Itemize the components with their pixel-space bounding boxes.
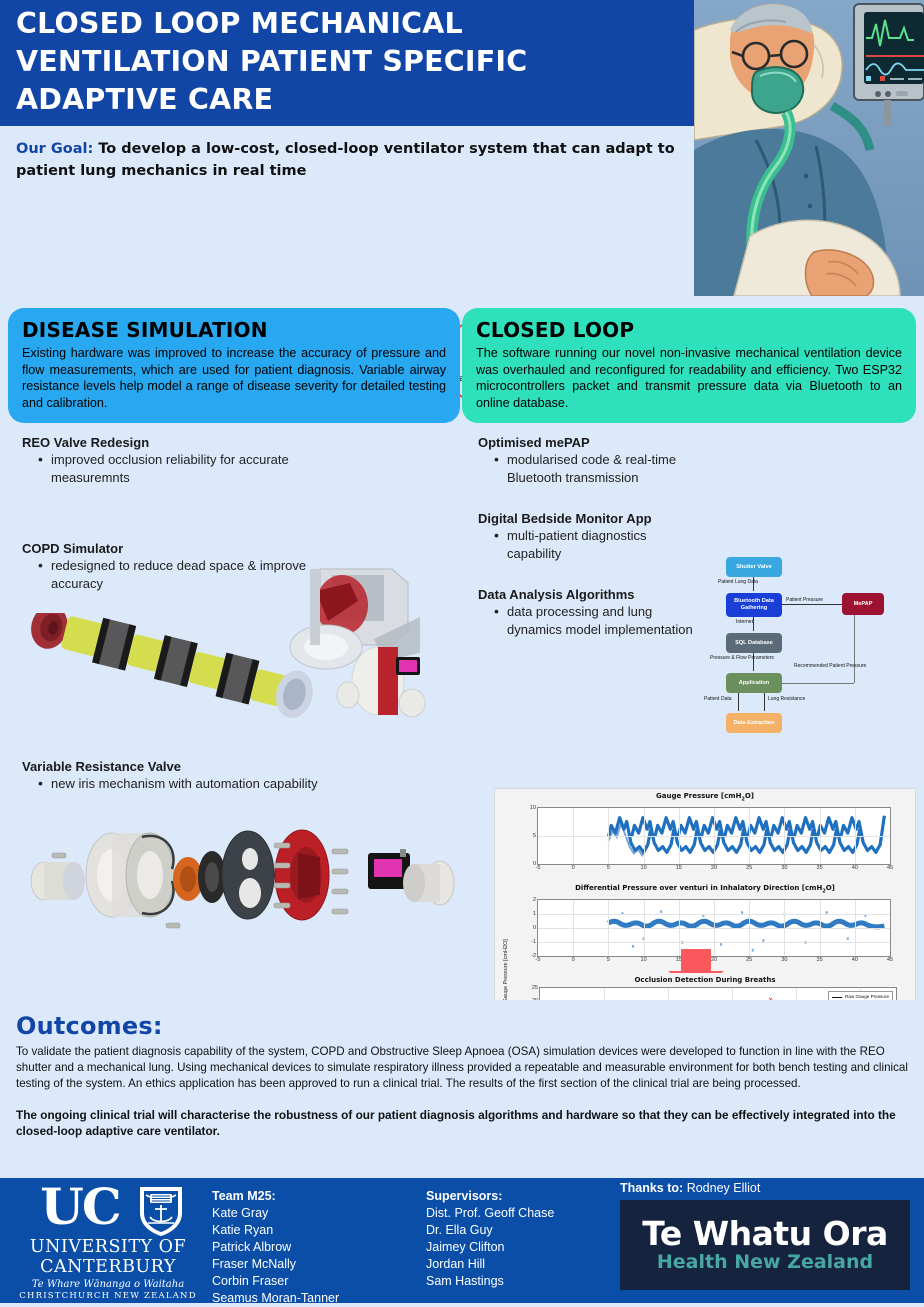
poster-footer: UC UNIVERSITY OF CANTERBURY Te Whare Wān… (0, 1178, 924, 1303)
chart-xtick: 5 (607, 957, 610, 963)
patient-ventilator-illustration (694, 0, 924, 296)
chart-xtick: 10 (641, 865, 647, 871)
item-heading: Variable Resistance Valve (22, 759, 452, 774)
team-member: Katie Ryan (212, 1222, 339, 1239)
supervisor-name: Sam Hastings (426, 1273, 554, 1290)
item-bullet: modularised code & real-time Bluetooth t… (494, 451, 698, 487)
chart-xtick: 20 (711, 865, 717, 871)
disease-simulation-title: DISEASE SIMULATION (22, 318, 446, 342)
chart-gauge-pressure: Gauge Pressure [cmH2O] (495, 789, 915, 881)
disease-simulation-box: DISEASE SIMULATION Existing hardware was… (8, 308, 460, 423)
disease-simulation-column: DISEASE SIMULATION Existing hardware was… (8, 308, 460, 983)
chart-ytick: 1 (533, 911, 536, 917)
chart-xtick: 40 (852, 865, 858, 871)
team-heading: Team M25: (212, 1188, 339, 1205)
chart-xtick: 5 (607, 865, 610, 871)
chart-xtick: 30 (781, 865, 787, 871)
chart-xtick: 0 (572, 957, 575, 963)
item-heading: Data Analysis Algorithms (478, 587, 708, 602)
item-reo-valve: REO Valve Redesign improved occlusion re… (22, 435, 302, 487)
diagram-node-mepap: MePAP (842, 593, 884, 615)
team-member: Fraser McNally (212, 1256, 339, 1273)
diagram-edge-patient-data: Patient Data (704, 696, 732, 702)
uc-maori-name: Te Whare Wānanga o Waitaha (18, 1279, 198, 1290)
team-member: Corbin Fraser (212, 1273, 339, 1290)
diagram-node-bluetooth-gathering: Bluetooth Data Gathering (726, 593, 782, 617)
outcomes-body: To validate the patient diagnosis capabi… (16, 1044, 908, 1092)
uc-city: CHRISTCHURCH NEW ZEALAND (18, 1291, 198, 1301)
uc-wordmark: UC (18, 1183, 142, 1231)
chart-ytick: -1 (531, 939, 536, 945)
chart-title: Differential Pressure over venturi in In… (495, 881, 915, 894)
chart-xtick: 10 (641, 957, 647, 963)
chart-ytick: 0 (533, 925, 536, 931)
chart-title: Occlusion Detection During Breaths (495, 973, 915, 984)
diagram-edge-lung-resistance: Lung Resistance (768, 696, 805, 702)
page-title: CLOSED LOOP MECHANICAL VENTILATION PATIE… (16, 5, 676, 119)
item-bullet: improved occlusion reliability for accur… (38, 451, 302, 487)
item-heading: REO Valve Redesign (22, 435, 302, 450)
item-copd-simulator: COPD Simulator redesigned to reduce dead… (22, 541, 342, 593)
supervisor-name: Jordan Hill (426, 1256, 554, 1273)
goal-band: Our Goal: To develop a low-cost, closed-… (0, 126, 694, 300)
chart-xtick: -5 (536, 865, 541, 871)
chart-xtick: 45 (887, 957, 893, 963)
chart-xtick: 40 (852, 957, 858, 963)
copd-simulator-figure (16, 613, 456, 733)
closed-loop-body: The software running our novel non-invas… (476, 345, 902, 411)
chart-xtick: 0 (572, 865, 575, 871)
diagram-edge-patient-pressure: Patient Pressure (786, 597, 823, 603)
chart-xtick: 35 (817, 865, 823, 871)
supervisors-heading: Supervisors: (426, 1188, 554, 1205)
chart-ytick: 2 (533, 897, 536, 903)
system-architecture-diagram: Shutter Valve Patient Lung Data Bluetoot… (702, 555, 916, 745)
thanks-heading: Thanks to: (620, 1181, 683, 1195)
chart-ytick: 25 (532, 985, 538, 991)
diagram-node-data-extraction: Data Extraction (726, 713, 782, 733)
goal-label: Our Goal: (16, 141, 93, 157)
outcomes-note: The ongoing clinical trial will characte… (16, 1107, 908, 1139)
diagram-edge-internet: Internet (736, 619, 753, 625)
chart-xtick: 25 (746, 865, 752, 871)
supervisor-name: Dr. Ella Guy (426, 1222, 554, 1239)
item-bullet: multi-patient diagnostics capability (494, 527, 698, 563)
team-member: Seamus Moran-Tanner (212, 1290, 339, 1307)
supervisor-name: Dist. Prof. Geoff Chase (426, 1205, 554, 1222)
supervisor-name: Jaimey Clifton (426, 1239, 554, 1256)
university-of-canterbury-logo: UC UNIVERSITY OF CANTERBURY Te Whare Wān… (18, 1183, 198, 1298)
diagram-edge-patient-lung-data: Patient Lung Data (718, 579, 758, 585)
uc-crest-icon (138, 1185, 184, 1237)
outcomes-title: Outcomes: (16, 1012, 908, 1040)
item-heading: Digital Bedside Monitor App (478, 511, 698, 526)
chart-xtick: 15 (676, 865, 682, 871)
closed-loop-title: CLOSED LOOP (476, 318, 902, 342)
chart-plot-area: 0 5 10 -5 0 5 10 15 20 25 30 35 40 45 (537, 807, 891, 865)
team-member: Kate Gray (212, 1205, 339, 1222)
disease-simulation-body: Existing hardware was improved to increa… (22, 345, 446, 411)
te-whatu-ora-logo: Te Whatu Ora Health New Zealand (620, 1200, 910, 1290)
item-bullet: redesigned to reduce dead space & improv… (38, 557, 342, 593)
diagram-edge-pressure-flow: Pressure & Flow Parameters (710, 655, 774, 661)
thanks-line: Thanks to: Rodney Elliot (620, 1181, 760, 1195)
te-whatu-ora-name: Te Whatu Ora (642, 1217, 888, 1251)
variable-resistance-valve-figure (16, 813, 466, 963)
item-optimised-mepap: Optimised mePAP modularised code & real-… (478, 435, 698, 487)
outcomes-section: Outcomes: To validate the patient diagno… (0, 1000, 924, 1175)
chart-xtick: 25 (746, 957, 752, 963)
chart-xtick: 45 (887, 865, 893, 871)
item-data-analysis-algorithms: Data Analysis Algorithms data processing… (478, 587, 708, 639)
item-bedside-monitor-app: Digital Bedside Monitor App multi-patien… (478, 511, 698, 563)
health-new-zealand-name: Health New Zealand (657, 1251, 873, 1273)
team-member: Patrick Albrow (212, 1239, 339, 1256)
goal-statement: Our Goal: To develop a low-cost, closed-… (16, 138, 678, 182)
poster-header: CLOSED LOOP MECHANICAL VENTILATION PATIE… (0, 0, 924, 300)
goal-text: To develop a low-cost, closed-loop venti… (16, 141, 675, 179)
chart-ytick: 5 (533, 833, 536, 839)
chart-ytick: 10 (530, 805, 536, 811)
item-bullet: new iris mechanism with automation capab… (38, 775, 452, 793)
item-variable-resistance-valve: Variable Resistance Valve new iris mecha… (22, 759, 452, 793)
title-banner: CLOSED LOOP MECHANICAL VENTILATION PATIE… (0, 0, 694, 126)
item-heading: COPD Simulator (22, 541, 342, 556)
diagram-node-shutter-valve: Shutter Valve (726, 557, 782, 577)
chart-xtick: 35 (817, 957, 823, 963)
chart-title: Gauge Pressure [cmH2O] (495, 789, 915, 802)
diagram-node-application: Application (726, 673, 782, 693)
diagram-node-sql-database: SQL Database (726, 633, 782, 653)
diagram-edge-recommended-pressure: Recommended Patient Pressure (794, 663, 866, 669)
uc-name-line1: UNIVERSITY OF (18, 1238, 198, 1257)
chart-xtick: -5 (536, 957, 541, 963)
item-heading: Optimised mePAP (478, 435, 698, 450)
item-bullet: data processing and lung dynamics model … (494, 603, 708, 639)
uc-name-line2: CANTERBURY (18, 1258, 198, 1277)
team-list: Team M25: Kate Gray Katie Ryan Patrick A… (212, 1188, 339, 1307)
thanks-name: Rodney Elliot (687, 1181, 761, 1195)
closed-loop-box: CLOSED LOOP The software running our nov… (462, 308, 916, 423)
chart-xtick: 30 (781, 957, 787, 963)
legend-line-swatch (832, 997, 842, 998)
supervisors-list: Supervisors: Dist. Prof. Geoff Chase Dr.… (426, 1188, 554, 1290)
